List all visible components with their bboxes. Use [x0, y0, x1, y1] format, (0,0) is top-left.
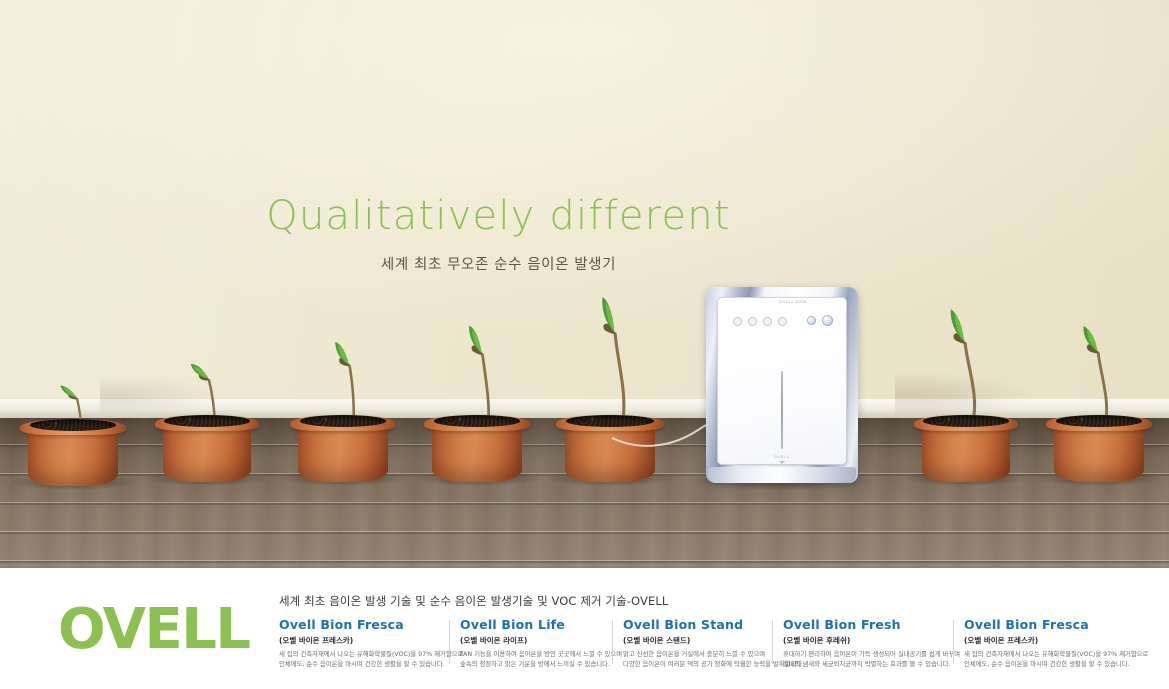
product-description-line: 인체에도, 순수 음이온을 마시며 건강한 생활을 할 수 있습니다. [279, 660, 439, 670]
mode-button[interactable] [807, 316, 816, 325]
product-description-line: 휴대하기 편리하여 음이온이 가득 생성되어 실내공기를 쉽게 바꾸며 [783, 650, 943, 660]
flower-pot [556, 404, 664, 482]
purifier-top-label: OVELL BION [747, 299, 839, 304]
flower-pot [155, 404, 259, 482]
flower-pot [290, 404, 396, 482]
pot-soil [164, 415, 249, 427]
power-button[interactable] [822, 315, 833, 326]
product-title: Ovell Bion Fresca [964, 618, 1128, 632]
potted-plant [424, 312, 530, 482]
product-list: Ovell Bion Fresca (오벨 바이온 프레스카) 새 집의 건축자… [279, 618, 1159, 670]
product-title: Ovell Bion Fresh [783, 618, 943, 632]
purifier-brand-label: OVELL [717, 454, 847, 459]
pot-soil [434, 415, 521, 427]
product-title: Ovell Bion Life [460, 618, 602, 632]
footer-panel: OVELL 세계 최초 음이온 발생 기술 및 순수 음이온 발생기술 및 VO… [0, 568, 1169, 689]
product-item[interactable]: Ovell Bion Fresh (오벨 바이온 후레쉬) 휴대하기 편리하여 … [772, 618, 953, 670]
product-description-line: 새 집의 건축자재에서 나오는 유해화학물질(VOC)을 97% 제거함으로 [964, 650, 1128, 660]
product-subtitle: (오벨 바이온 프레스카) [964, 635, 1128, 646]
product-item[interactable]: Ovell Bion Fresca (오벨 바이온 프레스카) 새 집의 건축자… [279, 618, 449, 670]
product-item[interactable]: Ovell Bion Stand (오벨 바이온 스탠드) 맑고 신선한 음이온… [612, 618, 772, 670]
pot-body [922, 426, 1009, 482]
product-item[interactable]: Ovell Bion Life (오벨 바이온 라이프) FAN 기능을 이용하… [449, 618, 612, 670]
purifier-base [708, 467, 856, 483]
airflow-arrow-icon [779, 461, 785, 464]
flower-pot [1046, 404, 1152, 482]
pot-body [565, 426, 656, 482]
product-subtitle: (오벨 바이온 프레스카) [279, 635, 439, 646]
pot-body [298, 426, 387, 482]
pot-soil [566, 415, 655, 427]
hero-scene: OVELL BION OVELL [0, 0, 1169, 568]
product-description-line: 다양한 음이온이 여러분 댁의 공기 정화에 탁월한 능력을 발휘합니다. [623, 660, 762, 670]
purifier-button-row[interactable] [807, 315, 833, 326]
pot-soil [1056, 415, 1143, 427]
potted-plant [20, 381, 126, 486]
air-purifier[interactable]: OVELL BION OVELL [706, 287, 858, 483]
product-subtitle: (오벨 바이온 후레쉬) [783, 635, 943, 646]
product-description-line: 새 집의 건축자재에서 나오는 유해화학물질(VOC)을 97% 제거함으로 [279, 650, 439, 660]
footer-tagline: 세계 최초 음이온 발생 기술 및 순수 음이온 발생기술 및 VOC 제거 기… [279, 593, 668, 609]
pot-body [1054, 426, 1143, 482]
product-description: 맑고 신선한 음이온을 거실에서 충분히 느낄 수 있으며 다양한 음이온이 여… [623, 650, 762, 670]
flower-pot [20, 408, 126, 486]
purifier-indicator-row [733, 317, 787, 326]
potted-plant [556, 282, 664, 482]
pot-body [432, 426, 521, 482]
pot-soil [923, 415, 1008, 427]
product-title: Ovell Bion Fresca [279, 618, 439, 632]
product-subtitle: (오벨 바이온 라이프) [460, 635, 602, 646]
product-description-line: 인체에도, 순수 음이온을 마시며 건강한 생활을 할 수 있습니다. [964, 660, 1128, 670]
product-item[interactable]: Ovell Bion Fresca (오벨 바이온 프레스카) 새 집의 건축자… [953, 618, 1138, 670]
product-description-line: FAN 기능을 이용하여 음이온을 방안 곳곳에서 느낄 수 있으며 [460, 650, 602, 660]
ovell-product-page: OVELL BION OVELL [0, 0, 1169, 689]
flower-pot [914, 404, 1018, 482]
product-description-line: 맑고 신선한 음이온을 거실에서 충분히 느낄 수 있으며 [623, 650, 762, 660]
purifier-front-panel: OVELL BION OVELL [717, 297, 847, 465]
potted-plant [155, 352, 259, 482]
flower-pot [424, 404, 530, 482]
product-description: 새 집의 건축자재에서 나오는 유해화학물질(VOC)을 97% 제거함으로 인… [964, 650, 1128, 670]
pot-body [28, 430, 117, 486]
pot-body [163, 426, 250, 482]
ovell-logo[interactable]: OVELL [58, 602, 250, 658]
product-description: 새 집의 건축자재에서 나오는 유해화학물질(VOC)을 97% 제거함으로 인… [279, 650, 439, 670]
filter-indicator-icon [778, 317, 787, 326]
product-description: FAN 기능을 이용하여 음이온을 방안 곳곳에서 느낄 수 있으며 숲속의 청… [460, 650, 602, 670]
product-description-line: 실내의 냄새와 세균퇴치균까지 박멸하는 효과를 볼 수 있습니다. [783, 660, 943, 670]
potted-plant [1046, 318, 1152, 482]
pot-soil [300, 415, 387, 427]
pot-soil [30, 419, 117, 431]
ion-indicator-icon [733, 317, 742, 326]
product-subtitle: (오벨 바이온 스탠드) [623, 635, 762, 646]
product-title: Ovell Bion Stand [623, 618, 762, 632]
timer-indicator-icon [763, 317, 772, 326]
purifier-air-slot [781, 371, 783, 449]
fan-indicator-icon [748, 317, 757, 326]
product-description: 휴대하기 편리하여 음이온이 가득 생성되어 실내공기를 쉽게 바꾸며 실내의 … [783, 650, 943, 670]
potted-plant [290, 334, 396, 482]
potted-plant [914, 302, 1018, 482]
product-description-line: 숲속의 청정하고 맑은 기운을 방에서 느끼실 수 있습니다. [460, 660, 602, 670]
